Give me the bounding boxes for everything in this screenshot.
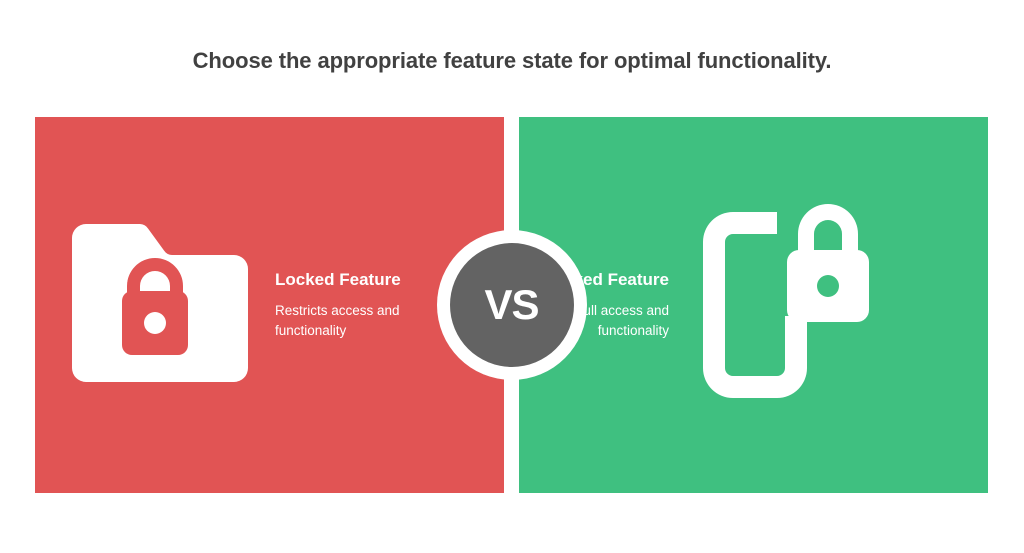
- vs-label: VS: [484, 284, 538, 326]
- folder-lock-icon: [60, 220, 250, 390]
- panel-locked-feature[interactable]: Locked Feature Restricts access and func…: [35, 117, 504, 493]
- page-title: Choose the appropriate feature state for…: [0, 48, 1024, 74]
- device-unlock-icon: [691, 200, 881, 410]
- locked-feature-text-block: Locked Feature Restricts access and func…: [275, 269, 450, 340]
- panel-unlocked-feature[interactable]: Unlocked Feature Grants full access and …: [519, 117, 988, 493]
- comparison-board: Locked Feature Restricts access and func…: [35, 117, 988, 493]
- locked-feature-description: Restricts access and functionality: [275, 301, 450, 340]
- locked-feature-heading: Locked Feature: [275, 269, 450, 291]
- vs-badge: VS: [437, 230, 587, 380]
- vs-badge-circle: VS: [450, 243, 574, 367]
